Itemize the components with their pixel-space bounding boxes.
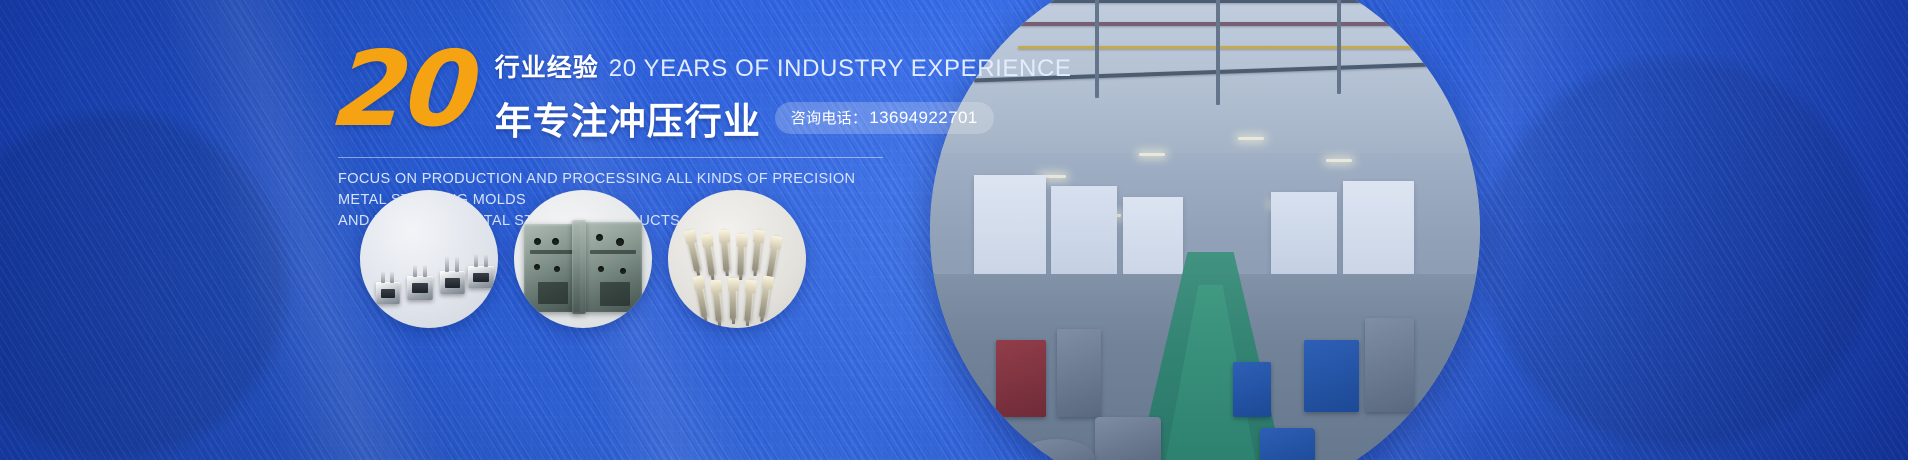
headline-line-2: 年专注冲压行业 咨询电话： 13694922701 [495, 91, 1072, 145]
horizontal-divider [338, 157, 883, 158]
product-circle-pins [668, 190, 806, 328]
headline-row: 20 行业经验 20 YEARS OF INDUSTRY EXPERIENCE … [338, 42, 898, 145]
chinese-subtitle: 行业经验 [495, 48, 599, 84]
chinese-headline: 年专注冲压行业 [495, 91, 761, 145]
product-circle-connectors [360, 190, 498, 328]
headline-text-group: 行业经验 20 YEARS OF INDUSTRY EXPERIENCE 年专注… [495, 42, 1072, 145]
promotional-banner: 20 行业经验 20 YEARS OF INDUSTRY EXPERIENCE … [0, 0, 1908, 460]
years-number: 20 [333, 44, 481, 136]
product-circle-molds [514, 190, 652, 328]
phone-badge[interactable]: 咨询电话： 13694922701 [775, 102, 994, 134]
product-circles-group [360, 190, 806, 328]
headline-line-1: 行业经验 20 YEARS OF INDUSTRY EXPERIENCE [495, 48, 1072, 84]
english-headline: 20 YEARS OF INDUSTRY EXPERIENCE [609, 55, 1072, 83]
phone-number: 13694922701 [869, 108, 977, 128]
phone-label: 咨询电话： [791, 107, 868, 128]
